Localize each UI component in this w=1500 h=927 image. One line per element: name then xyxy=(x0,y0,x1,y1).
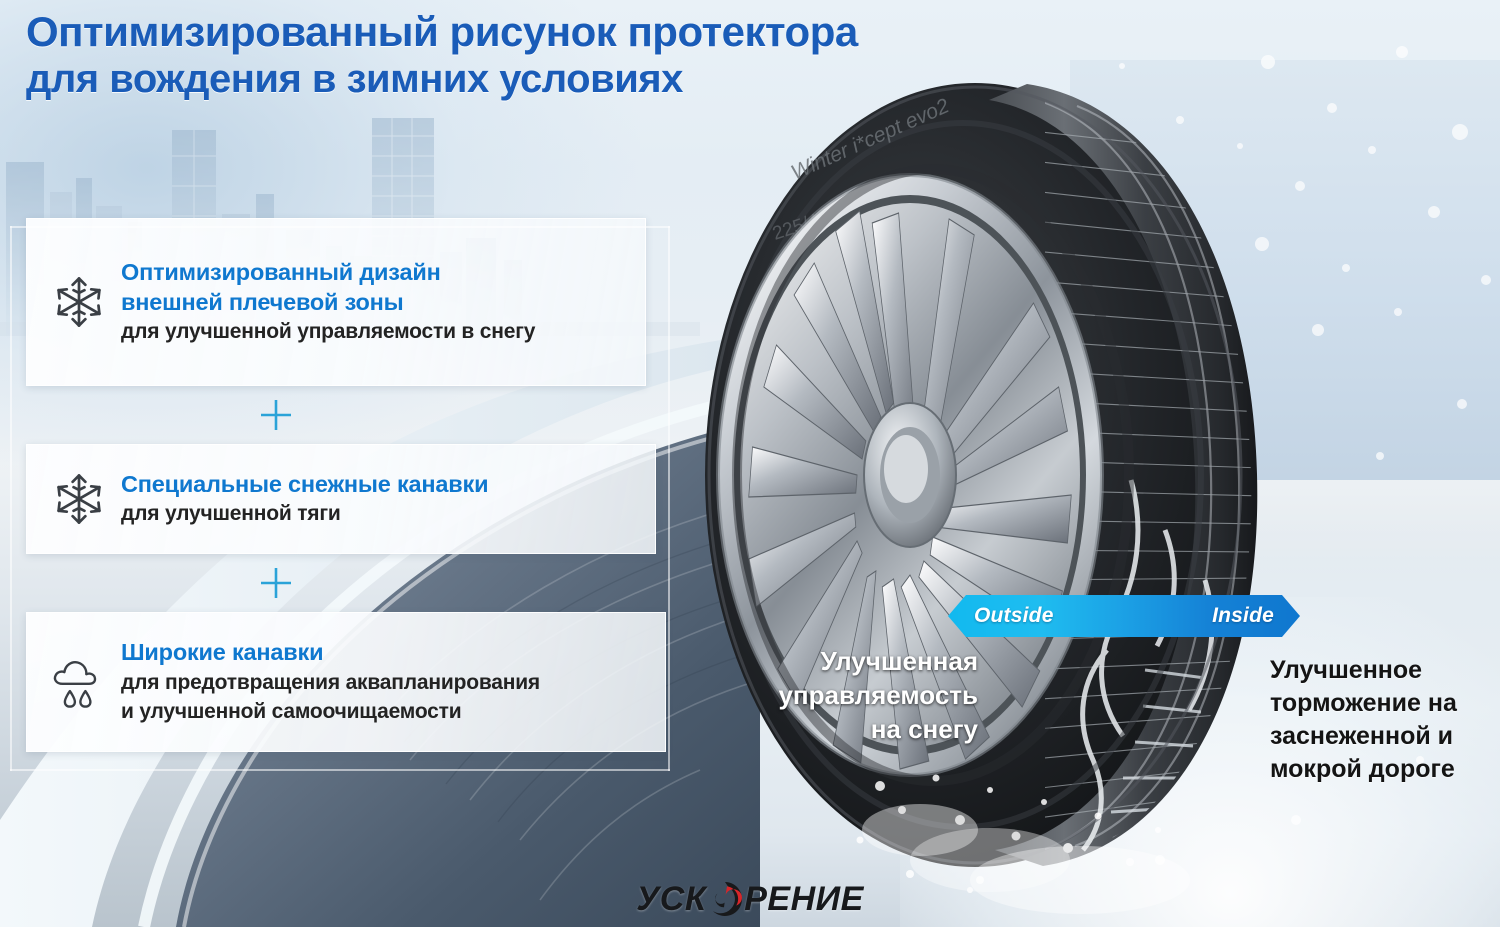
outside-inside-banner: Outside Inside xyxy=(948,595,1300,637)
plus-icon xyxy=(259,398,293,432)
swirl-icon xyxy=(703,879,747,919)
brand-logo[interactable]: УСК РЕНИЕ xyxy=(0,879,1500,919)
frame-line-bottom xyxy=(10,769,670,771)
logo-text-left: УСК xyxy=(636,880,706,919)
callout-left-line-2: управляемость xyxy=(748,679,978,713)
callout-right-line-3: заснеженной и xyxy=(1270,720,1492,753)
separator-plus-1 xyxy=(26,386,526,444)
winter-tire-infographic: Winter i*cept evo2 225/40R18 95V xyxy=(0,0,1500,927)
feature-card-1[interactable]: Оптимизированный дизайн внешней плечевой… xyxy=(26,218,646,386)
feature-card-3-text: Широкие канавки для предотвращения аквап… xyxy=(117,638,649,726)
callout-right-line-4: мокрой дороге xyxy=(1270,753,1492,786)
headline-line-1: Оптимизированный рисунок протектора xyxy=(26,10,1026,53)
page-title: Оптимизированный рисунок протектора для … xyxy=(26,10,1026,100)
feature-card-list: Оптимизированный дизайн внешней плечевой… xyxy=(26,218,666,752)
separator-plus-2 xyxy=(26,554,526,612)
feature-card-3-title: Широкие канавки xyxy=(121,638,649,668)
headline-line-2: для вождения в зимних условиях xyxy=(26,59,1026,100)
feature-card-2-text: Специальные снежные канавки для улучшенн… xyxy=(117,470,639,529)
banner-label-inside: Inside xyxy=(1212,595,1274,637)
callout-right: Улучшенное торможение на заснеженной и м… xyxy=(1270,654,1492,786)
feature-card-1-title-line1: Оптимизированный дизайн xyxy=(121,258,629,288)
snowflake-icon xyxy=(41,264,117,340)
feature-card-1-text: Оптимизированный дизайн внешней плечевой… xyxy=(117,258,629,347)
callout-right-line-1: Улучшенное xyxy=(1270,654,1492,687)
feature-card-2-title: Специальные снежные канавки xyxy=(121,470,639,500)
callout-left: Улучшенная управляемость на снегу xyxy=(748,645,978,746)
feature-card-3[interactable]: Широкие канавки для предотвращения аквап… xyxy=(26,612,666,752)
feature-card-3-subtitle-line2: и улучшенной самоочищаемости xyxy=(121,699,649,726)
callout-left-line-1: Улучшенная xyxy=(748,645,978,679)
callout-right-line-2: торможение на xyxy=(1270,687,1492,720)
feature-card-3-subtitle-line1: для предотвращения аквапланирования xyxy=(121,670,649,697)
feature-card-2[interactable]: Специальные снежные канавки для улучшенн… xyxy=(26,444,656,554)
frame-line-right xyxy=(668,226,670,771)
snowflake-icon xyxy=(41,461,117,537)
cloud-rain-icon xyxy=(41,644,117,720)
logo-text-right: РЕНИЕ xyxy=(744,880,864,919)
frame-line-left xyxy=(10,226,12,771)
frame-line-top xyxy=(10,226,670,228)
feature-card-1-subtitle: для улучшенной управляемости в снегу xyxy=(121,319,629,346)
feature-card-2-subtitle: для улучшенной тяги xyxy=(121,501,639,528)
plus-icon xyxy=(259,566,293,600)
feature-card-1-title-line2: внешней плечевой зоны xyxy=(121,288,629,318)
banner-label-outside: Outside xyxy=(974,595,1054,637)
callout-left-line-3: на снегу xyxy=(748,713,978,747)
